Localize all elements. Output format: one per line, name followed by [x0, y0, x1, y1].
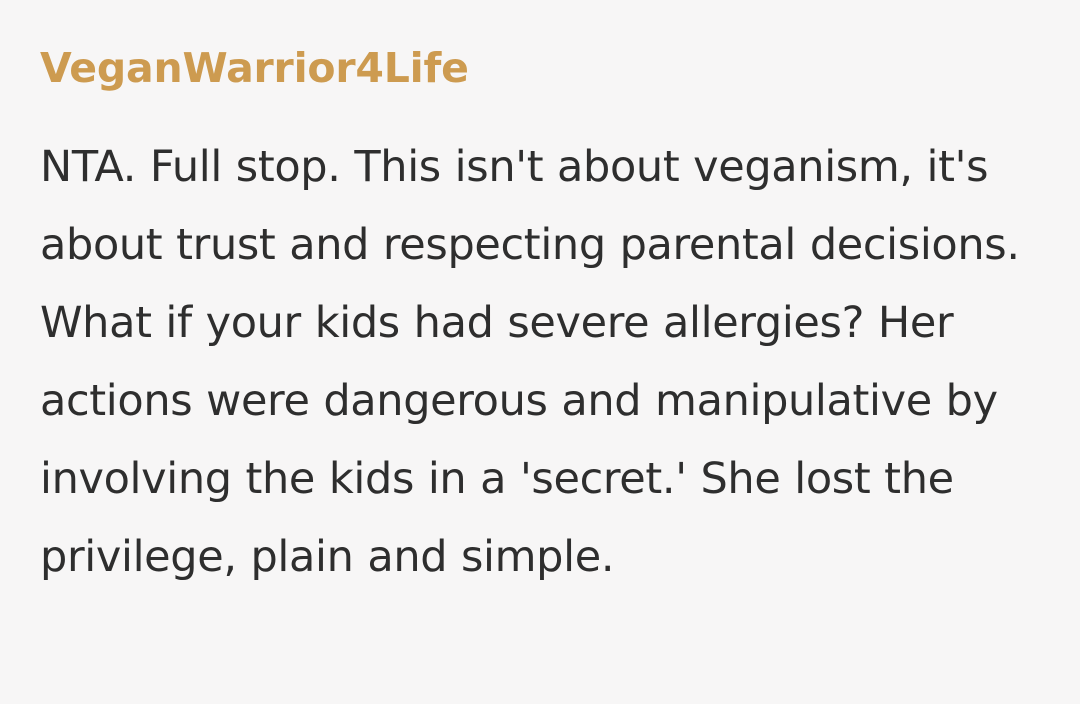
comment-card: VeganWarrior4Life NTA. Full stop. This i…: [0, 0, 1080, 704]
comment-author-username[interactable]: VeganWarrior4Life: [40, 42, 469, 94]
comment-body-text: NTA. Full stop. This isn't about veganis…: [40, 128, 1045, 596]
